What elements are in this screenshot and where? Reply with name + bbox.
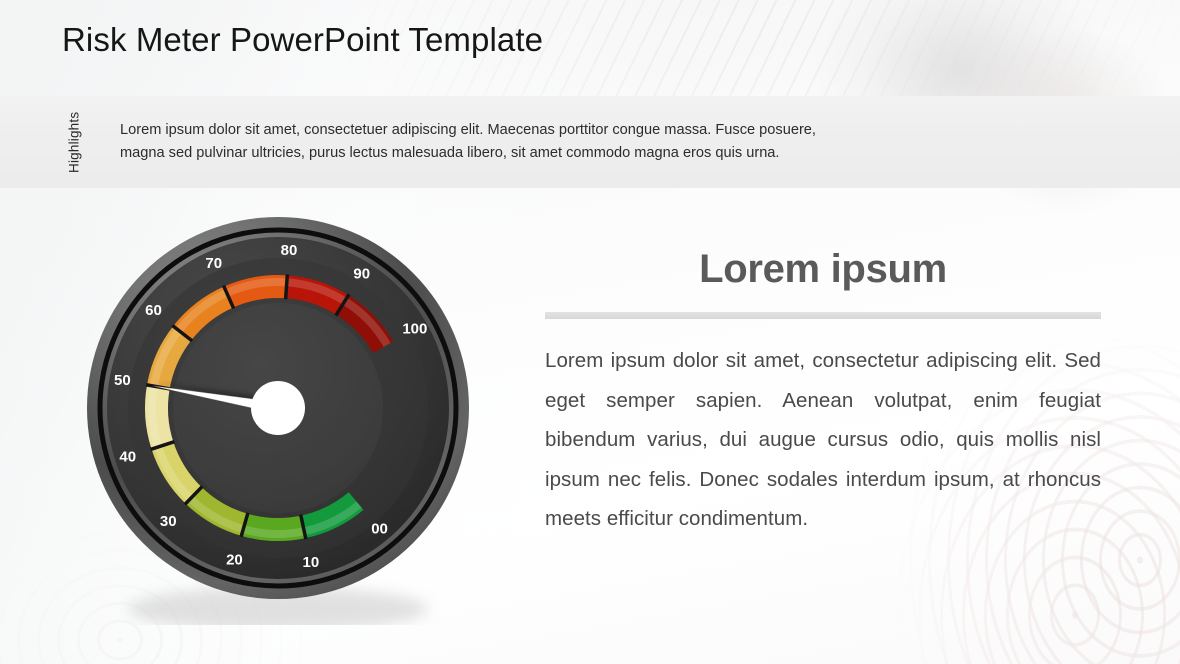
gauge-label-40: 40 bbox=[119, 448, 136, 465]
page-title: Risk Meter PowerPoint Template bbox=[62, 21, 543, 59]
content-heading: Lorem ipsum bbox=[545, 248, 1101, 290]
gauge-label-80: 80 bbox=[281, 242, 298, 259]
risk-gauge: 00102030405060708090100 bbox=[78, 205, 478, 625]
highlights-line-2: magna sed pulvinar ultricies, purus lect… bbox=[120, 142, 1080, 165]
gauge-label-00: 00 bbox=[371, 521, 388, 538]
gauge-label-60: 60 bbox=[145, 302, 162, 319]
highlights-line-1: Lorem ipsum dolor sit amet, consectetuer… bbox=[120, 119, 1080, 142]
gauge-label-100: 100 bbox=[402, 321, 427, 338]
gauge-label-10: 10 bbox=[303, 554, 320, 571]
gauge-needle-hub bbox=[251, 381, 305, 435]
gauge-label-30: 30 bbox=[160, 513, 177, 530]
highlights-band: Highlights Lorem ipsum dolor sit amet, c… bbox=[0, 96, 1180, 188]
content-panel: Lorem ipsum Lorem ipsum dolor sit amet, … bbox=[545, 248, 1101, 539]
gauge-label-70: 70 bbox=[205, 255, 222, 272]
gauge-tick-80 bbox=[286, 274, 288, 299]
slide-canvas: Risk Meter PowerPoint Template Highlight… bbox=[0, 0, 1180, 664]
gauge-label-20: 20 bbox=[226, 551, 243, 568]
gauge-label-50: 50 bbox=[114, 372, 131, 389]
highlights-label: Highlights bbox=[63, 96, 85, 188]
highlights-text: Lorem ipsum dolor sit amet, consectetuer… bbox=[120, 96, 1080, 188]
content-divider bbox=[545, 312, 1101, 319]
content-body: Lorem ipsum dolor sit amet, consectetur … bbox=[545, 341, 1101, 539]
risk-gauge-svg: 00102030405060708090100 bbox=[78, 205, 478, 625]
gauge-label-90: 90 bbox=[353, 266, 370, 283]
